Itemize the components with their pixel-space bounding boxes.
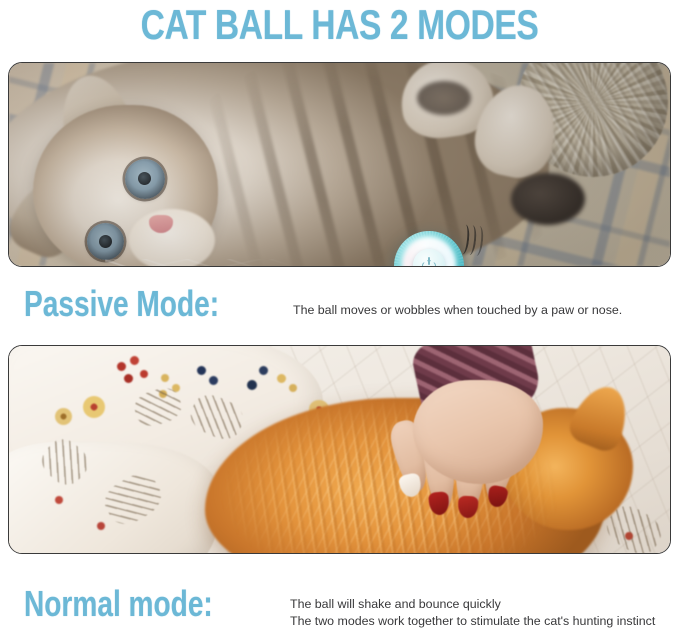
passive-photo-scene [9,63,670,266]
floral-berry-dark [197,366,206,375]
floral-berry-cluster [161,374,169,382]
floral-berry-cluster [140,370,148,378]
floral-berry-red [625,532,633,540]
floral-flower-yellow [83,396,105,418]
floral-berry-yellow [277,374,286,383]
floral-berry-dark [259,366,268,375]
floral-berry-cluster [124,374,133,383]
floral-berry-cluster [130,356,139,365]
passive-mode-photo [8,62,671,267]
normal-mode-description: The ball will shake and bounce quickly T… [290,596,655,629]
floral-flower-yellow [55,408,72,425]
floral-berry-red [97,522,105,530]
passive-mode-heading: Passive Mode: [24,284,219,324]
normal-photo-scene [9,346,670,553]
floral-berry-dark [209,376,218,385]
floral-berry-yellow [289,384,297,392]
floral-berry-dark [247,380,257,390]
passive-mode-description: The ball moves or wobbles when touched b… [293,302,622,319]
normal-mode-heading: Normal mode: [24,584,213,624]
normal-mode-photo [8,345,671,554]
power-icon [422,258,436,266]
page-title: CAT BALL HAS 2 MODES [68,2,611,48]
floral-berry-red [55,496,63,504]
photo-vignette [9,63,670,266]
floral-berry-cluster [117,362,126,371]
